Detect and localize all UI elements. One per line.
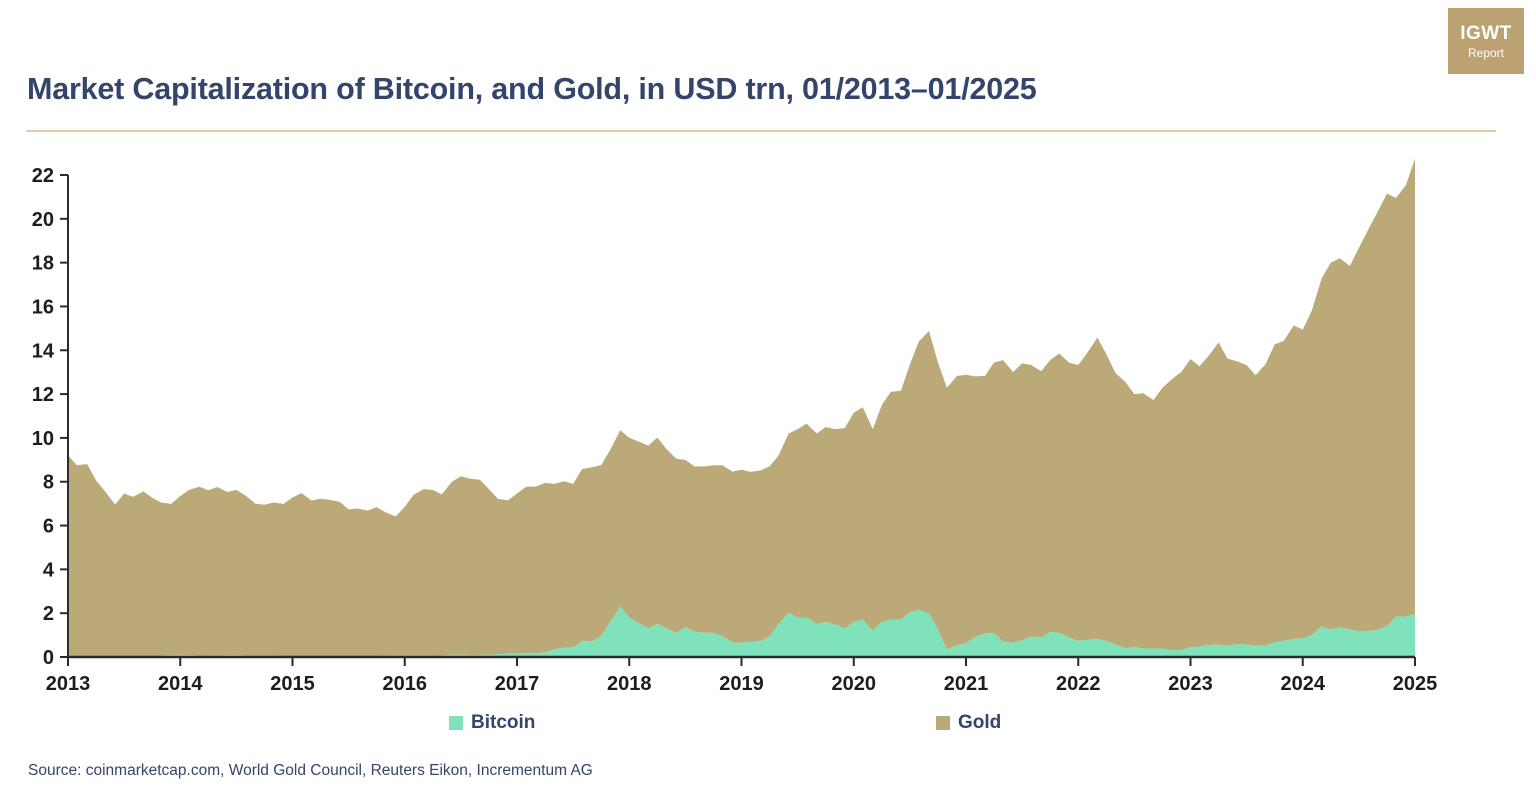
y-tick-label: 0 (43, 647, 54, 669)
x-tick-label: 2017 (495, 673, 540, 690)
x-tick-label: 2021 (944, 673, 989, 690)
y-tick-label: 8 (43, 472, 54, 494)
y-tick-label: 22 (32, 165, 54, 187)
series-layer (68, 159, 1415, 657)
y-axis-ticks: 0246810121416182022 (32, 165, 68, 669)
page-title: Market Capitalization of Bitcoin, and Go… (27, 72, 1037, 107)
x-tick-label: 2015 (270, 673, 315, 690)
y-tick-label: 18 (32, 253, 54, 275)
legend-item-gold[interactable]: Gold (936, 713, 1001, 732)
stacked-area-chart: 0246810121416182022 20132014201520162017… (0, 150, 1536, 690)
y-tick-label: 20 (32, 209, 54, 231)
chart-legend: Bitcoin Gold (68, 713, 1418, 743)
title-divider (26, 130, 1496, 132)
x-tick-label: 2019 (719, 673, 764, 690)
y-tick-label: 4 (43, 559, 55, 581)
x-tick-label: 2013 (46, 673, 91, 690)
chart-area: 0246810121416182022 20132014201520162017… (0, 150, 1536, 690)
x-tick-label: 2022 (1056, 673, 1101, 690)
y-tick-label: 6 (43, 516, 54, 538)
legend-label-bitcoin: Bitcoin (471, 713, 535, 732)
legend-item-bitcoin[interactable]: Bitcoin (449, 713, 535, 732)
y-tick-label: 2 (43, 603, 54, 625)
logo-main-text: IGWT (1460, 24, 1512, 43)
legend-swatch-bitcoin-icon (449, 716, 463, 730)
x-tick-label: 2014 (158, 673, 203, 690)
x-tick-label: 2016 (383, 673, 428, 690)
igwt-report-logo: IGWT Report (1448, 8, 1524, 74)
y-tick-label: 10 (32, 428, 54, 450)
legend-label-gold: Gold (958, 713, 1001, 732)
y-tick-label: 12 (32, 384, 54, 406)
chart-page: IGWT Report Market Capitalization of Bit… (0, 0, 1536, 786)
x-tick-label: 2023 (1168, 673, 1213, 690)
x-axis-ticks: 2013201420152016201720182019202020212022… (46, 657, 1438, 690)
x-tick-label: 2025 (1393, 673, 1438, 690)
y-tick-label: 16 (32, 296, 54, 318)
x-tick-label: 2018 (607, 673, 652, 690)
logo-sub-text: Report (1468, 47, 1504, 59)
y-tick-label: 14 (32, 340, 55, 362)
source-note: Source: coinmarketcap.com, World Gold Co… (28, 762, 593, 780)
x-tick-label: 2024 (1281, 673, 1326, 690)
legend-swatch-gold-icon (936, 716, 950, 730)
area-series-gold (68, 159, 1415, 657)
x-tick-label: 2020 (832, 673, 877, 690)
